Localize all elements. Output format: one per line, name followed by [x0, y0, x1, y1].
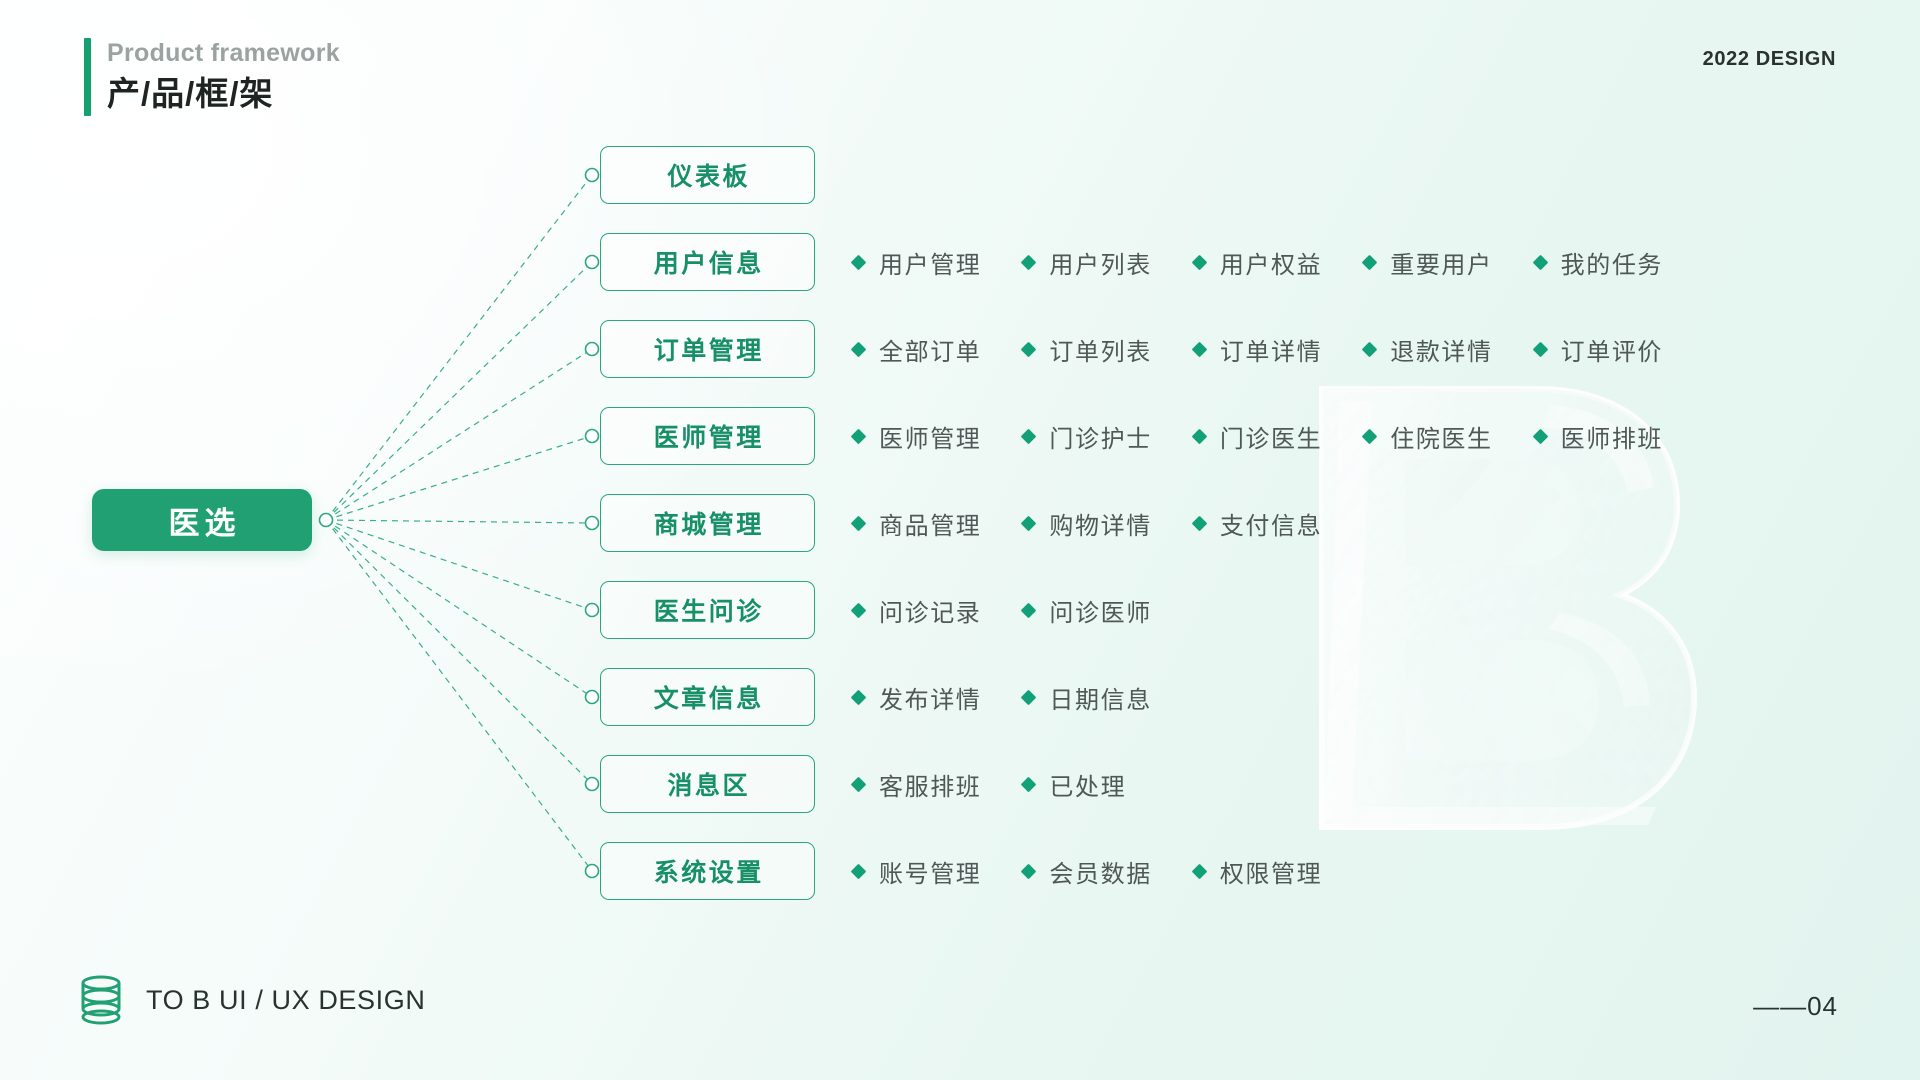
sub-item-list: 问诊记录问诊医师 [853, 593, 1152, 628]
sub-item-label: 用户列表 [1049, 245, 1151, 280]
branch-row: 系统设置账号管理会员数据权限管理 [600, 842, 1322, 900]
sub-item[interactable]: 问诊医师 [1023, 593, 1151, 628]
database-stack-icon [78, 975, 124, 1025]
connector-line [326, 436, 592, 520]
sub-item-list: 客服排班已处理 [853, 767, 1126, 802]
diamond-bullet-icon [1021, 776, 1037, 792]
branch-row: 用户信息用户管理用户列表用户权益重要用户我的任务 [600, 233, 1663, 291]
sub-item-label: 权限管理 [1220, 854, 1322, 889]
connector-line [326, 175, 592, 520]
branch-row: 消息区客服排班已处理 [600, 755, 1126, 813]
sub-item-label: 重要用户 [1390, 245, 1492, 280]
sub-item[interactable]: 医师排班 [1535, 419, 1663, 454]
diamond-bullet-icon [851, 689, 867, 705]
sub-item[interactable]: 订单详情 [1194, 332, 1322, 367]
sub-item-label: 退款详情 [1390, 332, 1492, 367]
branch-node-8[interactable]: 消息区 [600, 755, 815, 813]
sub-item-label: 医师管理 [879, 419, 981, 454]
diamond-bullet-icon [1362, 341, 1378, 357]
footer-brand: TO B UI / UX DESIGN [78, 975, 425, 1025]
sub-item-list: 全部订单订单列表订单详情退款详情订单评价 [853, 332, 1663, 367]
connector-line [326, 520, 592, 697]
diamond-bullet-icon [1021, 254, 1037, 270]
sub-item-label: 购物详情 [1049, 506, 1151, 541]
header-kicker: Product framework [107, 38, 340, 69]
sub-item[interactable]: 会员数据 [1023, 854, 1151, 889]
branch-node-label: 消息区 [665, 766, 750, 802]
sub-item-label: 门诊医生 [1220, 419, 1322, 454]
node-dot-icon [586, 430, 599, 443]
header-text-group: Product framework 产/品/框/架 [107, 38, 340, 116]
diamond-bullet-icon [851, 515, 867, 531]
node-dot-icon [586, 517, 599, 530]
node-dot-icon [586, 778, 599, 791]
sub-item[interactable]: 门诊医生 [1194, 419, 1322, 454]
branch-node-label: 商城管理 [651, 505, 764, 541]
diamond-bullet-icon [1192, 515, 1208, 531]
sub-item-list: 账号管理会员数据权限管理 [853, 854, 1322, 889]
branch-node-label: 用户信息 [651, 244, 764, 280]
sub-item-label: 日期信息 [1049, 680, 1151, 715]
diamond-bullet-icon [1532, 341, 1548, 357]
sub-item-list: 发布详情日期信息 [853, 680, 1152, 715]
root-node-label: 医选 [164, 498, 241, 543]
sub-item[interactable]: 订单评价 [1535, 332, 1663, 367]
sub-item-label: 发布详情 [879, 680, 981, 715]
diamond-bullet-icon [1532, 254, 1548, 270]
node-dot-icon [586, 169, 599, 182]
branch-node-1[interactable]: 仪表板 [600, 146, 815, 204]
sub-item[interactable]: 门诊护士 [1023, 419, 1151, 454]
sub-item-label: 订单详情 [1220, 332, 1322, 367]
sub-item[interactable]: 已处理 [1023, 767, 1126, 802]
sub-item-list: 用户管理用户列表用户权益重要用户我的任务 [853, 245, 1663, 280]
connector-line [326, 520, 592, 871]
sub-item[interactable]: 问诊记录 [853, 593, 981, 628]
diamond-bullet-icon [851, 341, 867, 357]
branch-node-label: 仪表板 [665, 157, 750, 193]
branch-node-2[interactable]: 用户信息 [600, 233, 815, 291]
connector-line [326, 520, 592, 784]
connector-line [326, 520, 592, 523]
branch-row: 订单管理全部订单订单列表订单详情退款详情订单评价 [600, 320, 1663, 378]
sub-item-list: 商品管理购物详情支付信息 [853, 506, 1322, 541]
sub-item[interactable]: 重要用户 [1364, 245, 1492, 280]
branch-row: 仪表板 [600, 146, 815, 204]
root-node-dot-icon [320, 514, 333, 527]
branch-node-label: 文章信息 [651, 679, 764, 715]
sub-item[interactable]: 支付信息 [1194, 506, 1322, 541]
sub-item[interactable]: 购物详情 [1023, 506, 1151, 541]
branch-node-label: 系统设置 [651, 853, 764, 889]
branch-node-5[interactable]: 商城管理 [600, 494, 815, 552]
diamond-bullet-icon [1021, 863, 1037, 879]
node-dot-icon [586, 604, 599, 617]
footer-brand-label: TO B UI / UX DESIGN [146, 985, 425, 1016]
page-title: 产/品/框/架 [107, 73, 340, 116]
sub-item[interactable]: 用户权益 [1194, 245, 1322, 280]
sub-item-label: 支付信息 [1220, 506, 1322, 541]
sub-item[interactable]: 权限管理 [1194, 854, 1322, 889]
sub-item[interactable]: 日期信息 [1023, 680, 1151, 715]
sub-item[interactable]: 用户管理 [853, 245, 981, 280]
sub-item[interactable]: 订单列表 [1023, 332, 1151, 367]
sub-item[interactable]: 用户列表 [1023, 245, 1151, 280]
product-framework-diagram: 医选 仪表板用户信息用户管理用户列表用户权益重要用户我的任务订单管理全部订单订单… [0, 0, 1920, 1080]
branch-row: 医师管理医师管理门诊护士门诊医生住院医生医师排班 [600, 407, 1663, 465]
branch-node-4[interactable]: 医师管理 [600, 407, 815, 465]
sub-item-label: 住院医生 [1390, 419, 1492, 454]
sub-item[interactable]: 我的任务 [1535, 245, 1663, 280]
diamond-bullet-icon [1021, 602, 1037, 618]
sub-item[interactable]: 客服排班 [853, 767, 981, 802]
diamond-bullet-icon [851, 428, 867, 444]
diamond-bullet-icon [1192, 863, 1208, 879]
diamond-bullet-icon [1192, 428, 1208, 444]
diamond-bullet-icon [1192, 341, 1208, 357]
diamond-bullet-icon [851, 254, 867, 270]
connector-line [326, 349, 592, 520]
sub-item-label: 订单列表 [1049, 332, 1151, 367]
sub-item-list: 医师管理门诊护士门诊医生住院医生医师排班 [853, 419, 1663, 454]
branch-row: 文章信息发布详情日期信息 [600, 668, 1152, 726]
node-dot-icon [586, 865, 599, 878]
diamond-bullet-icon [1362, 428, 1378, 444]
sub-item-label: 已处理 [1049, 767, 1126, 802]
diamond-bullet-icon [1021, 689, 1037, 705]
sub-item-label: 商品管理 [879, 506, 981, 541]
sub-item-label: 我的任务 [1561, 245, 1663, 280]
sub-item[interactable]: 全部订单 [853, 332, 981, 367]
node-dot-icon [586, 256, 599, 269]
sub-item[interactable]: 住院医生 [1364, 419, 1492, 454]
sub-item-label: 客服排班 [879, 767, 981, 802]
sub-item[interactable]: 账号管理 [853, 854, 981, 889]
sub-item-label: 账号管理 [879, 854, 981, 889]
diamond-bullet-icon [1192, 254, 1208, 270]
branch-node-7[interactable]: 文章信息 [600, 668, 815, 726]
diamond-bullet-icon [1021, 515, 1037, 531]
sub-item-label: 问诊医师 [1049, 593, 1151, 628]
connector-line [326, 262, 592, 520]
sub-item-label: 会员数据 [1049, 854, 1151, 889]
node-dot-icon [586, 691, 599, 704]
design-year-label: 2022 DESIGN [1703, 48, 1836, 71]
branch-node-3[interactable]: 订单管理 [600, 320, 815, 378]
sub-item[interactable]: 商品管理 [853, 506, 981, 541]
node-dot-icon [586, 343, 599, 356]
branch-node-6[interactable]: 医生问诊 [600, 581, 815, 639]
branch-node-label: 订单管理 [651, 331, 764, 367]
branch-row: 商城管理商品管理购物详情支付信息 [600, 494, 1322, 552]
diamond-bullet-icon [851, 776, 867, 792]
root-node-yixuan[interactable]: 医选 [92, 489, 312, 551]
branch-node-9[interactable]: 系统设置 [600, 842, 815, 900]
sub-item-label: 用户权益 [1220, 245, 1322, 280]
connector-line [326, 520, 592, 610]
branch-node-label: 医生问诊 [651, 592, 764, 628]
sub-item-label: 门诊护士 [1049, 419, 1151, 454]
sub-item[interactable]: 医师管理 [853, 419, 981, 454]
sub-item-label: 用户管理 [879, 245, 981, 280]
sub-item-label: 订单评价 [1561, 332, 1663, 367]
sub-item-label: 医师排班 [1561, 419, 1663, 454]
sub-item-label: 全部订单 [879, 332, 981, 367]
page-header: Product framework 产/品/框/架 [84, 38, 340, 116]
diamond-bullet-icon [851, 863, 867, 879]
diamond-bullet-icon [1021, 341, 1037, 357]
sub-item[interactable]: 发布详情 [853, 680, 981, 715]
sub-item[interactable]: 退款详情 [1364, 332, 1492, 367]
page-number: ——04 [1753, 991, 1838, 1022]
diamond-bullet-icon [1021, 428, 1037, 444]
sub-item-label: 问诊记录 [879, 593, 981, 628]
branch-row: 医生问诊问诊记录问诊医师 [600, 581, 1152, 639]
diamond-bullet-icon [851, 602, 867, 618]
branch-node-label: 医师管理 [651, 418, 764, 454]
diamond-bullet-icon [1532, 428, 1548, 444]
diamond-bullet-icon [1362, 254, 1378, 270]
header-accent-bar [84, 38, 91, 116]
